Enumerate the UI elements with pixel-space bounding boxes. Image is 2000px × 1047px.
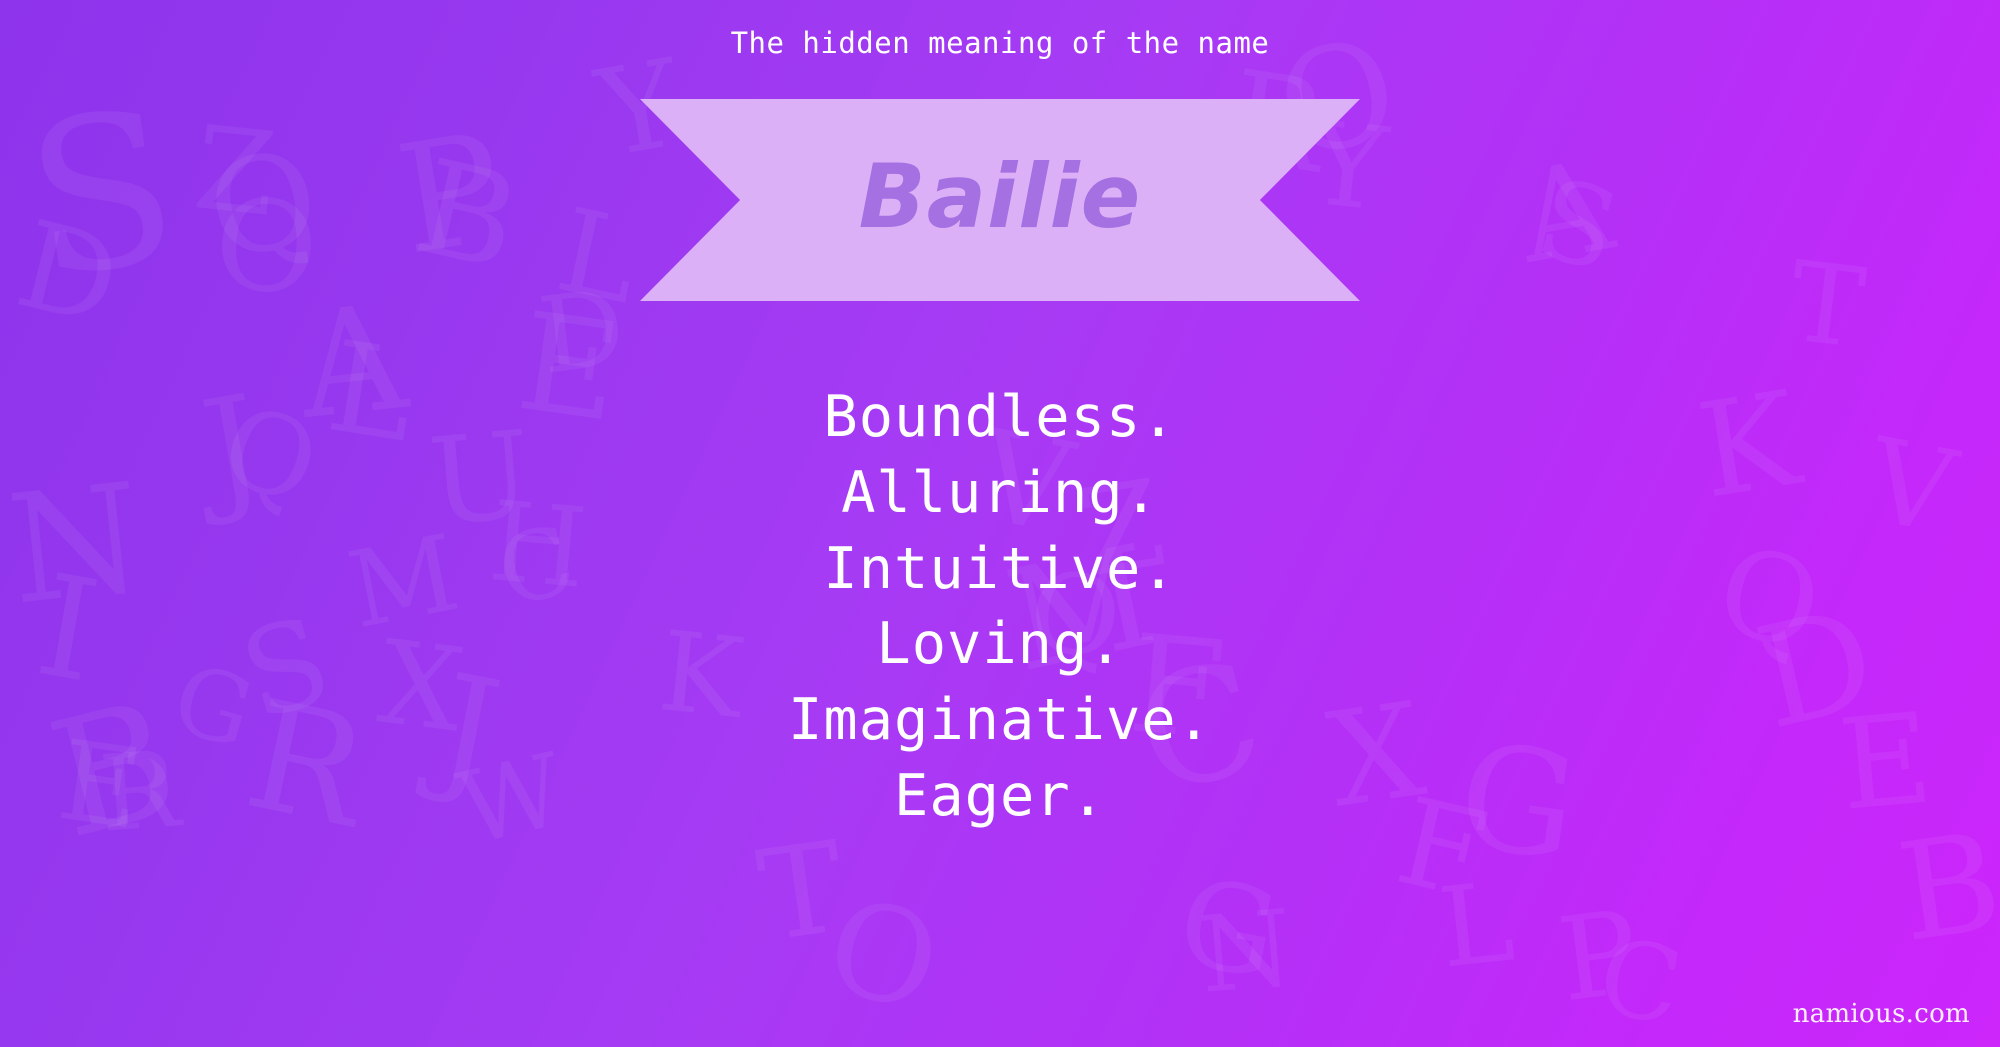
watermark-letter: P (389, 113, 512, 277)
watermark-letter: C (1591, 924, 1688, 1041)
watermark-letter: D (534, 275, 630, 389)
trait-list: Boundless. Alluring. Intuitive. Loving. … (0, 380, 2000, 835)
trait-item: Boundless. (0, 380, 2000, 456)
watermark-letter: D (7, 205, 129, 345)
watermark-letter: L (549, 193, 648, 321)
trait-item: Intuitive. (0, 532, 2000, 608)
watermark-letter: B (1891, 814, 2000, 961)
site-watermark: namious.com (1793, 999, 1970, 1029)
watermark-letter: O (816, 879, 951, 1031)
name-meaning-card: SDNIBERGZQOJQSRALMXPBUJWHCEDLYKTONVMQZFC… (0, 0, 2000, 1047)
watermark-letter: B (407, 141, 529, 289)
watermark-letter: S (1527, 162, 1628, 288)
trait-item: Alluring. (0, 456, 2000, 532)
name-ribbon-banner: Bailie (640, 99, 1360, 301)
watermark-letter: T (752, 825, 852, 960)
watermark-letter: N (1196, 896, 1297, 1009)
name-text: Bailie (859, 153, 1142, 247)
watermark-letter: S (16, 81, 188, 309)
trait-item: Imaginative. (0, 683, 2000, 759)
watermark-letter: L (1434, 866, 1518, 983)
trait-item: Eager. (0, 759, 2000, 835)
watermark-letter: P (1553, 896, 1644, 1020)
watermark-letter: G (1169, 862, 1286, 998)
trait-item: Loving. (0, 607, 2000, 683)
watermark-letter: O (211, 182, 322, 314)
watermark-letter: A (1510, 143, 1621, 282)
watermark-letter: Q (198, 130, 329, 279)
page-title: The hidden meaning of the name (0, 26, 2000, 60)
watermark-letter: Z (189, 111, 280, 234)
watermark-letter: T (1784, 246, 1870, 364)
